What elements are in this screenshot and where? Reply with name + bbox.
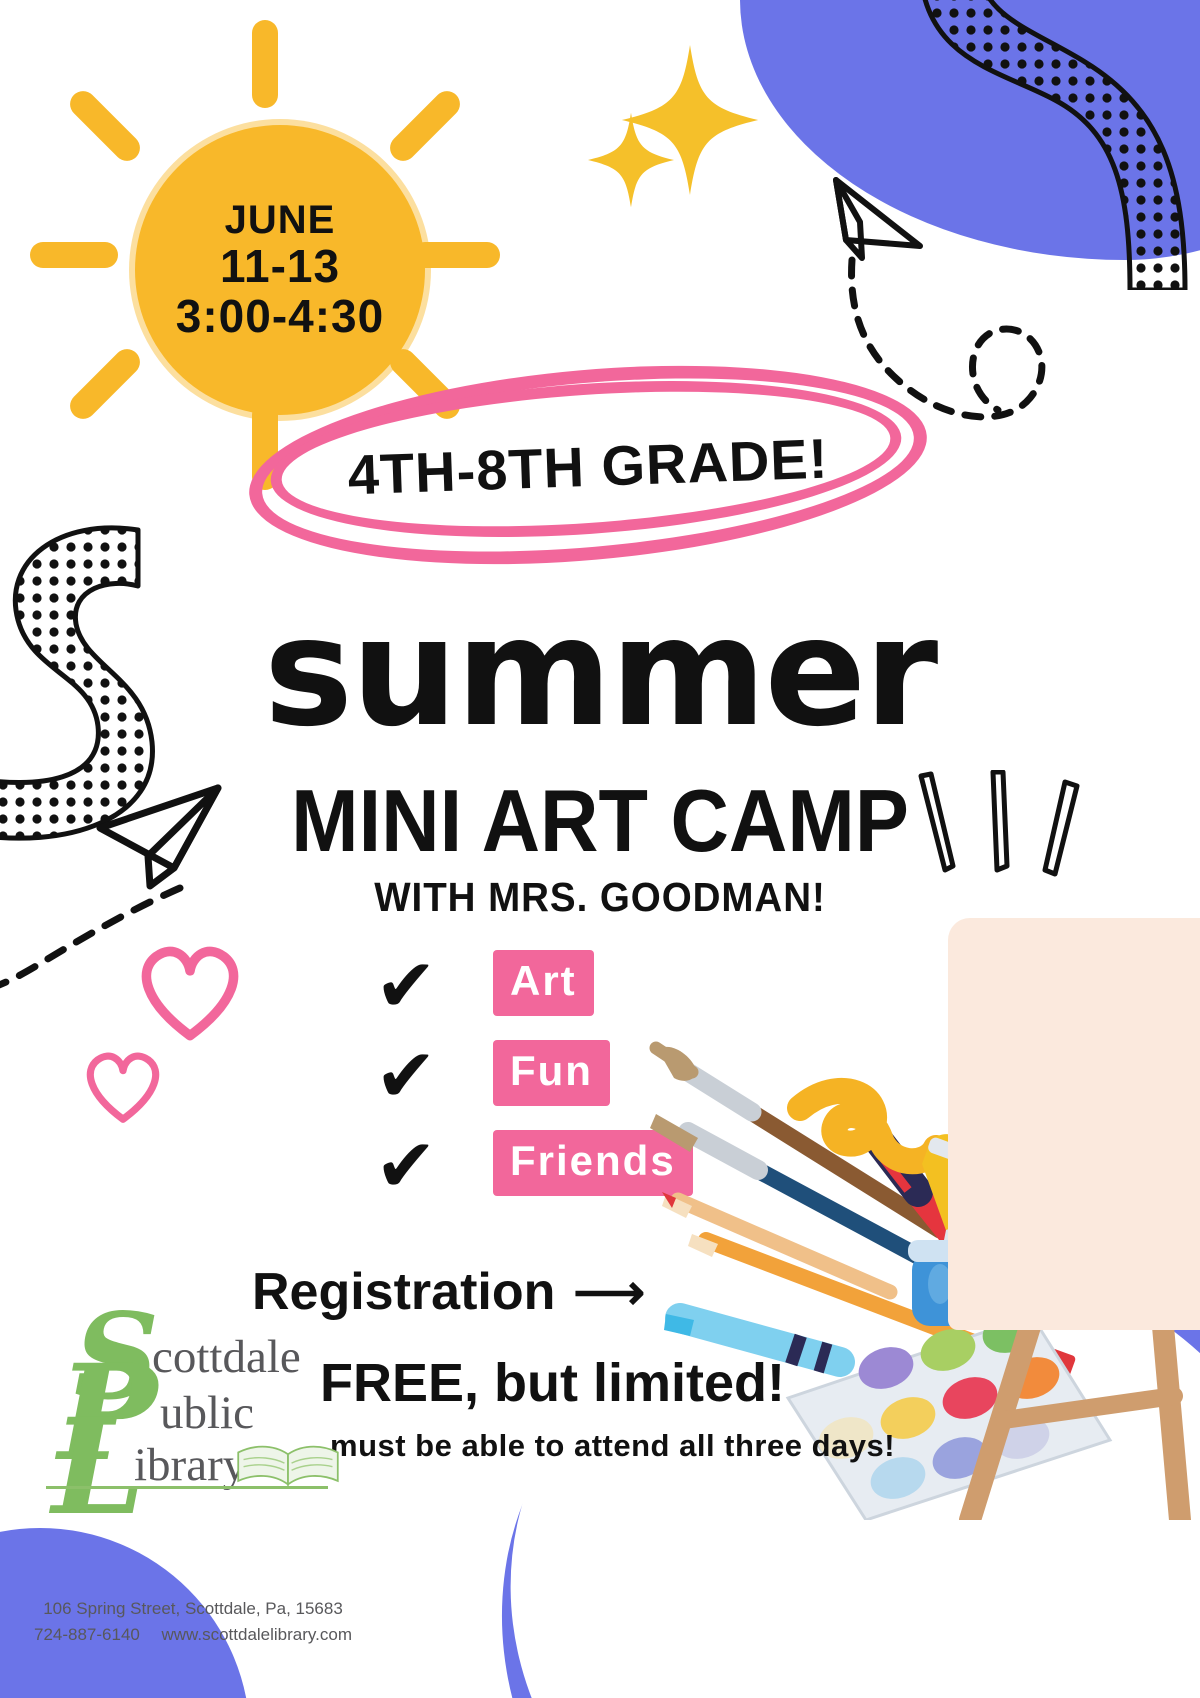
sun-ray (30, 242, 118, 268)
footer-website[interactable]: www.scottdalelibrary.com (161, 1622, 352, 1648)
page-subtitle: MINI ART CAMP (48, 770, 1152, 872)
page-title-text: summer (264, 598, 936, 748)
footer-phone[interactable]: 724-887-6140 (34, 1622, 140, 1648)
sparkle-star-small-icon (588, 110, 674, 210)
logo-word-library: ibrary (134, 1442, 246, 1489)
footer-address: 106 Spring Street, Scottdale, Pa, 15683 (28, 1596, 358, 1622)
registration-cost: FREE, but limited! (320, 1352, 785, 1414)
sun-ray (252, 20, 278, 108)
logo-divider (46, 1486, 328, 1489)
check-icon: ✔ (375, 954, 445, 1024)
open-book-icon (234, 1440, 342, 1488)
footer-contact: 106 Spring Street, Scottdale, Pa, 15683 … (28, 1596, 358, 1649)
sun-ray (65, 86, 146, 167)
list-item: ✔ Fun (375, 1040, 685, 1118)
sun-ray (412, 242, 500, 268)
heart-small-icon (78, 1040, 168, 1130)
list-item: ✔ Art (375, 950, 685, 1028)
list-item: ✔ Friends (375, 1130, 685, 1208)
checklist: ✔ Art ✔ Fun ✔ Friends (375, 950, 685, 1220)
library-logo: S P L cottdale ublic ibrary (38, 1290, 338, 1530)
logo-word-public: ublic (160, 1390, 254, 1437)
checklist-chip-fun: Fun (493, 1040, 610, 1106)
sun-month: JUNE (225, 199, 336, 242)
check-icon: ✔ (375, 1044, 445, 1114)
grade-banner: 4TH-8TH GRADE! (248, 370, 928, 560)
canvas-icon (948, 918, 1200, 1330)
sun-days: 11-13 (220, 242, 340, 292)
page-title: summer (0, 598, 1200, 748)
check-icon: ✔ (375, 1134, 445, 1204)
sun-time: 3:00-4:30 (176, 292, 384, 342)
logo-word-scottdale: cottdale (152, 1334, 301, 1381)
registration-note: must be able to attend all three days! (330, 1428, 895, 1464)
logo-script-l: L (52, 1402, 145, 1534)
poster-canvas: JUNE 11-13 3:00-4:30 4TH-8TH GRADE! summ… (0, 0, 1200, 1698)
checklist-chip-art: Art (493, 950, 594, 1016)
sun-ray (65, 344, 146, 425)
arrow-right-icon: ⟶ (573, 1267, 645, 1317)
heart-big-icon (130, 930, 250, 1050)
